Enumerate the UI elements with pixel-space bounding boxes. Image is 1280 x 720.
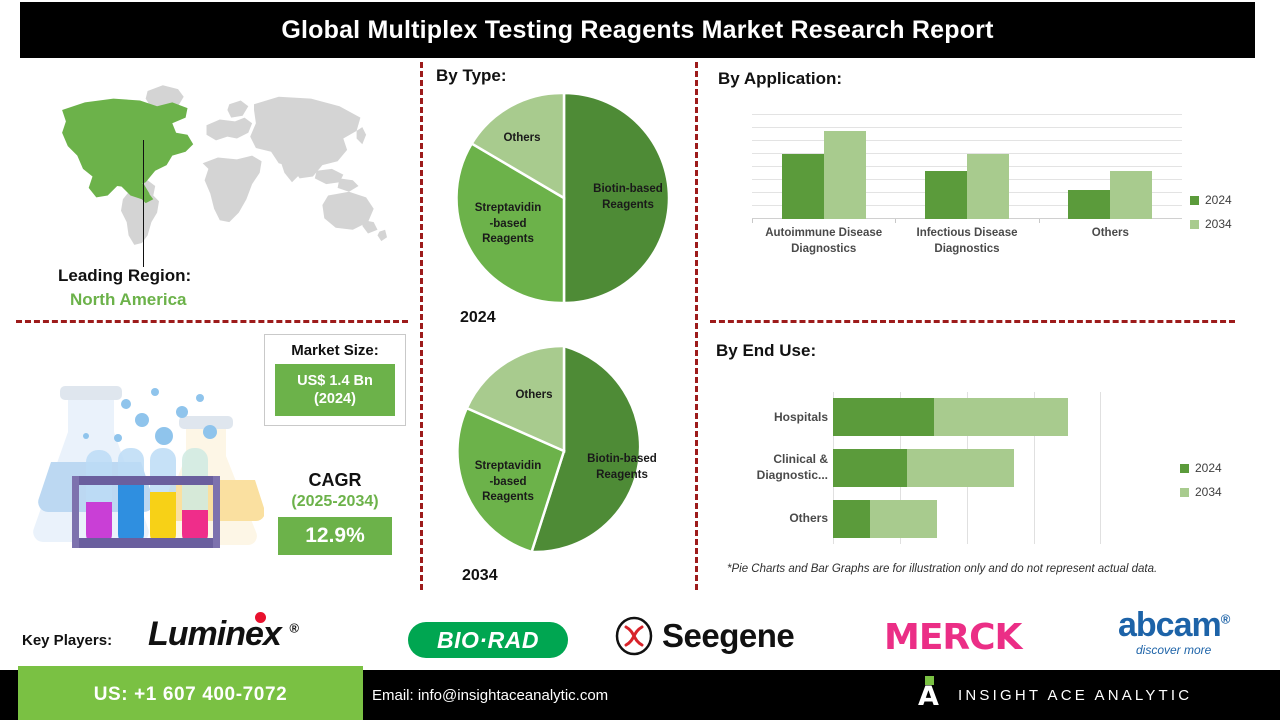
insight-ace-logo-icon: A — [918, 679, 944, 711]
merck-text: Merck — [884, 617, 1021, 658]
axis-label-autoimmune: Autoimmune Disease Diagnostics — [752, 226, 895, 257]
abcam-text-wrap: abcam® — [1118, 608, 1229, 642]
logo-abcam: abcam® discover more — [1118, 608, 1229, 657]
eu-seg-2024-clinical — [833, 449, 907, 487]
section-title-by-application: By Application: — [718, 69, 842, 89]
end-use-bar-chart — [833, 392, 1101, 544]
market-size-box: Market Size: US$ 1.4 Bn (2024) — [264, 334, 406, 426]
bar-group-infectious — [895, 114, 1038, 219]
legend-item-2024: 2024 — [1190, 193, 1232, 207]
eu-seg-2024-hospitals — [833, 398, 934, 436]
cagr-block: CAGR (2025-2034) 12.9% — [264, 470, 406, 555]
pie-2034-year: 2034 — [462, 567, 498, 585]
application-legend: 2024 2034 — [1190, 193, 1232, 241]
cagr-value: 12.9% — [278, 517, 392, 555]
legend-label-2024: 2024 — [1205, 193, 1232, 207]
eu-seg-2034-hospitals — [934, 398, 1068, 436]
logo-merck: Merck — [884, 617, 1021, 658]
market-size-title: Market Size: — [265, 342, 405, 359]
pie-2024-year: 2024 — [460, 309, 496, 327]
divider-vertical-right — [695, 62, 698, 590]
divider-vertical-left — [420, 62, 423, 590]
leading-region-label: Leading Region: — [58, 266, 191, 286]
abcam-text: abcam — [1118, 606, 1221, 644]
brand-name: INSIGHT ACE ANALYTIC — [958, 687, 1192, 704]
axis-label-others: Others — [1039, 226, 1182, 257]
pie-2024-label-biotin: Biotin-basedReagents — [578, 182, 678, 213]
pie-chart-2034 — [453, 345, 675, 557]
abcam-registered-icon: ® — [1221, 612, 1230, 627]
application-axis-labels: Autoimmune Disease Diagnostics Infectiou… — [752, 226, 1182, 257]
end-use-legend: 2024 2034 — [1180, 461, 1222, 509]
eu-label-others: Others — [700, 500, 828, 538]
bar-2034-autoimmune — [824, 131, 866, 219]
brand-letter: A — [918, 683, 939, 710]
eu-legend-label-2034: 2034 — [1195, 485, 1222, 499]
eu-row-others — [833, 500, 1101, 538]
bar-group-autoimmune — [752, 114, 895, 219]
legend-swatch-2024 — [1190, 196, 1199, 205]
eu-legend-item-2024: 2024 — [1180, 461, 1222, 475]
market-size-year: (2024) — [314, 390, 356, 408]
bar-2034-others — [1110, 171, 1152, 219]
chart-disclaimer: *Pie Charts and Bar Graphs are for illus… — [727, 563, 1157, 575]
legend-swatch-2034 — [1190, 220, 1199, 229]
legend-item-2034: 2034 — [1190, 217, 1232, 231]
footer-phone: US: +1 607 400-7072 — [18, 670, 363, 720]
divider-horizontal-right — [710, 320, 1235, 323]
eu-seg-2024-others — [833, 500, 870, 538]
page-title: Global Multiplex Testing Reagents Market… — [281, 16, 993, 45]
divider-horizontal-left — [16, 320, 408, 323]
luminex-registered-icon: ® — [289, 621, 298, 636]
pie-2024-label-others: Others — [490, 131, 554, 147]
eu-label-hospitals: Hospitals — [700, 398, 828, 436]
cagr-title: CAGR — [264, 470, 406, 491]
eu-seg-2034-clinical — [907, 449, 1014, 487]
application-bar-chart — [752, 114, 1182, 219]
section-title-by-end-use: By End Use: — [716, 341, 816, 361]
bar-2024-autoimmune — [782, 154, 824, 219]
eu-legend-swatch-2024 — [1180, 464, 1189, 473]
pie-2034-label-streptavidin: Streptavidin-basedReagents — [458, 459, 558, 506]
pie-2034-label-others: Others — [502, 388, 566, 404]
eu-legend-item-2034: 2034 — [1180, 485, 1222, 499]
leading-region-block: Leading Region: North America — [58, 266, 191, 310]
eu-row-hospitals — [833, 398, 1101, 436]
logo-seegene: Seegene — [615, 616, 794, 656]
abcam-tagline: discover more — [1118, 643, 1229, 657]
section-title-by-type: By Type: — [436, 66, 507, 86]
key-players-label: Key Players: — [22, 632, 112, 649]
market-size-value: US$ 1.4 Bn — [297, 372, 373, 390]
seegene-text: Seegene — [662, 617, 794, 655]
cagr-years: (2025-2034) — [264, 493, 406, 511]
market-size-chip: US$ 1.4 Bn (2024) — [275, 364, 395, 416]
bio-rad-text: BIO·RAD — [437, 627, 539, 654]
footer-brand: A INSIGHT ACE ANALYTIC — [918, 670, 1192, 720]
pie-2034-label-biotin: Biotin-basedReagents — [572, 452, 672, 483]
axis-label-infectious: Infectious Disease Diagnostics — [895, 226, 1038, 257]
lab-flasks-illustration — [14, 352, 264, 572]
eu-legend-label-2024: 2024 — [1195, 461, 1222, 475]
pie-2024-label-streptavidin: Streptavidin-basedReagents — [458, 201, 558, 248]
bar-2024-others — [1068, 190, 1110, 219]
leading-region-value: North America — [70, 290, 191, 310]
footer-email: Email: info@insightaceanalytic.com — [372, 670, 608, 720]
luminex-dot-icon — [255, 612, 266, 623]
header-bar: Global Multiplex Testing Reagents Market… — [20, 2, 1255, 58]
end-use-category-labels: Hospitals Clinical &Diagnostic... Others — [700, 392, 828, 544]
bar-2024-infectious — [925, 171, 967, 219]
seegene-mark-icon — [615, 616, 653, 656]
world-map — [18, 72, 414, 262]
eu-row-clinical — [833, 449, 1101, 487]
logo-luminex: Luminex ® — [148, 615, 298, 654]
map-leader-line — [143, 140, 144, 267]
logo-bio-rad: BIO·RAD — [408, 622, 568, 658]
eu-seg-2034-others — [870, 500, 937, 538]
bar-group-others — [1039, 114, 1182, 219]
eu-legend-swatch-2034 — [1180, 488, 1189, 497]
eu-label-clinical: Clinical &Diagnostic... — [700, 449, 828, 487]
legend-label-2034: 2034 — [1205, 217, 1232, 231]
bar-2034-infectious — [967, 154, 1009, 219]
